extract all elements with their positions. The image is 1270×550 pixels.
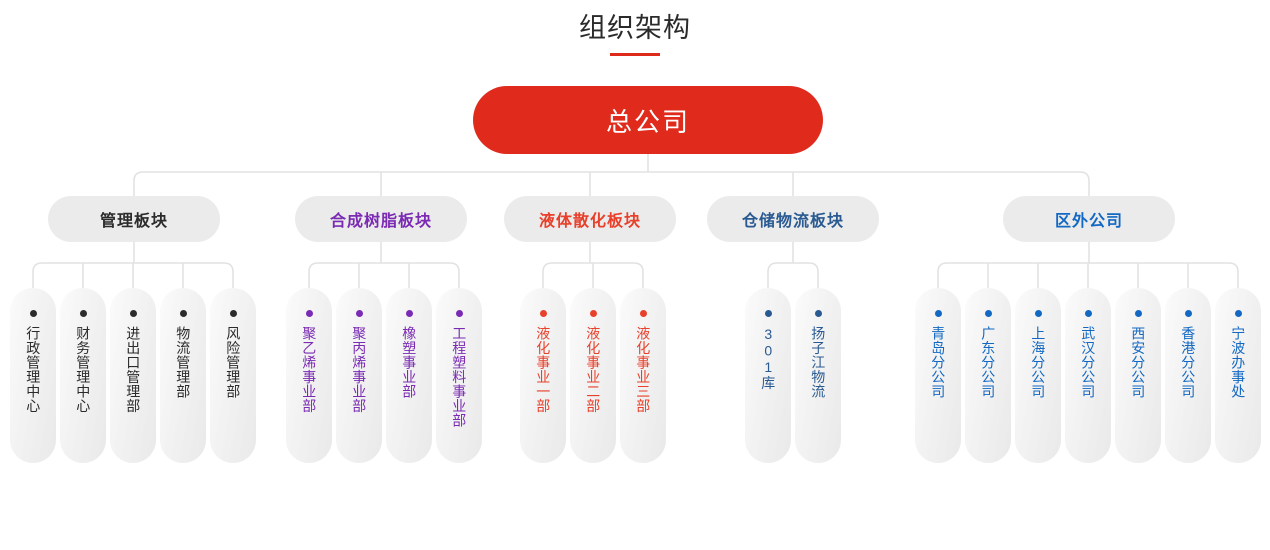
page-title: 组织架构 [0,10,1270,46]
leaf-node-management-2[interactable]: 进出口管理部 [110,288,156,463]
leaf-node-external-1[interactable]: 广东分公司 [965,288,1011,463]
leaf-node-resin-0[interactable]: 聚乙烯事业部 [286,288,332,463]
leaf-node-storage-0[interactable]: 301库 [745,288,791,463]
leaf-node-label: 液化事业一部 [535,326,552,413]
branch-node-label: 合成树脂板块 [330,207,432,231]
bullet-dot-icon [180,310,187,317]
leaf-node-label: 行政管理中心 [25,326,42,413]
leaf-node-label: 物流管理部 [175,326,192,399]
branch-node-resin[interactable]: 合成树脂板块 [295,196,467,242]
bullet-dot-icon [640,310,647,317]
leaf-node-external-3[interactable]: 武汉分公司 [1065,288,1111,463]
level2-drop-resin-3 [450,263,459,288]
connector-lines [0,0,1270,550]
branch-node-label: 液体散化板块 [539,207,641,231]
bullet-dot-icon [765,310,772,317]
bullet-dot-icon [306,310,313,317]
bullet-dot-icon [1185,310,1192,317]
bullet-dot-icon [456,310,463,317]
bullet-dot-icon [985,310,992,317]
bullet-dot-icon [815,310,822,317]
leaf-node-label: 广东分公司 [980,326,997,399]
leaf-node-label: 液化事业三部 [635,326,652,413]
leaf-node-management-0[interactable]: 行政管理中心 [10,288,56,463]
leaf-node-label: 扬子江物流 [810,326,827,399]
bullet-dot-icon [80,310,87,317]
leaf-node-management-4[interactable]: 风险管理部 [210,288,256,463]
bullet-dot-icon [935,310,942,317]
leaf-node-management-1[interactable]: 财务管理中心 [60,288,106,463]
leaf-node-storage-1[interactable]: 扬子江物流 [795,288,841,463]
leaf-node-label: 财务管理中心 [75,326,92,413]
bullet-dot-icon [230,310,237,317]
leaf-node-external-6[interactable]: 宁波办事处 [1215,288,1261,463]
leaf-node-label: 聚丙烯事业部 [351,326,368,413]
leaf-node-external-2[interactable]: 上海分公司 [1015,288,1061,463]
leaf-node-label: 液化事业二部 [585,326,602,413]
bullet-dot-icon [30,310,37,317]
leaf-node-label: 风险管理部 [225,326,242,399]
leaf-node-liquid-0[interactable]: 液化事业一部 [520,288,566,463]
bullet-dot-icon [130,310,137,317]
leaf-node-resin-1[interactable]: 聚丙烯事业部 [336,288,382,463]
branch-node-storage[interactable]: 仓储物流板块 [707,196,879,242]
level2-drop-liquid-0 [543,263,552,288]
root-node-total-company[interactable]: 总公司 [473,86,823,154]
bullet-dot-icon [590,310,597,317]
bullet-dot-icon [540,310,547,317]
level2-drop-storage-1 [809,263,818,288]
level2-drop-external-6 [1229,263,1238,288]
leaf-node-label: 武汉分公司 [1080,326,1097,399]
level2-drop-external-0 [938,263,947,288]
level2-drop-management-0 [33,263,42,288]
leaf-node-label: 青岛分公司 [930,326,947,399]
leaf-node-liquid-2[interactable]: 液化事业三部 [620,288,666,463]
leaf-node-label: 橡塑事业部 [401,326,418,399]
bullet-dot-icon [406,310,413,317]
leaf-node-label: 上海分公司 [1030,326,1047,399]
level2-drop-resin-0 [309,263,318,288]
level1-drop-management [134,172,143,196]
leaf-node-label: 进出口管理部 [125,326,142,413]
leaf-node-label: 西安分公司 [1130,326,1147,399]
leaf-node-label: 301库 [760,326,777,390]
branch-node-external[interactable]: 区外公司 [1003,196,1175,242]
leaf-node-external-4[interactable]: 西安分公司 [1115,288,1161,463]
level2-drop-management-4 [224,263,233,288]
branch-node-label: 仓储物流板块 [742,207,844,231]
bullet-dot-icon [356,310,363,317]
leaf-node-label: 香港分公司 [1180,326,1197,399]
bullet-dot-icon [1235,310,1242,317]
leaf-node-label: 工程塑料事业部 [451,326,468,428]
leaf-node-resin-2[interactable]: 橡塑事业部 [386,288,432,463]
bullet-dot-icon [1085,310,1092,317]
branch-node-label: 区外公司 [1055,207,1123,231]
branch-node-management[interactable]: 管理板块 [48,196,220,242]
branch-node-label: 管理板块 [100,207,168,231]
leaf-node-liquid-1[interactable]: 液化事业二部 [570,288,616,463]
level1-drop-external [1080,172,1089,196]
leaf-node-management-3[interactable]: 物流管理部 [160,288,206,463]
bullet-dot-icon [1035,310,1042,317]
leaf-node-resin-3[interactable]: 工程塑料事业部 [436,288,482,463]
leaf-node-external-5[interactable]: 香港分公司 [1165,288,1211,463]
title-underline [610,53,660,56]
root-node-label: 总公司 [606,102,690,139]
level2-drop-storage-0 [768,263,777,288]
level2-drop-liquid-2 [634,263,643,288]
bullet-dot-icon [1135,310,1142,317]
leaf-node-label: 聚乙烯事业部 [301,326,318,413]
branch-node-liquid[interactable]: 液体散化板块 [504,196,676,242]
leaf-node-external-0[interactable]: 青岛分公司 [915,288,961,463]
leaf-node-label: 宁波办事处 [1230,326,1247,399]
